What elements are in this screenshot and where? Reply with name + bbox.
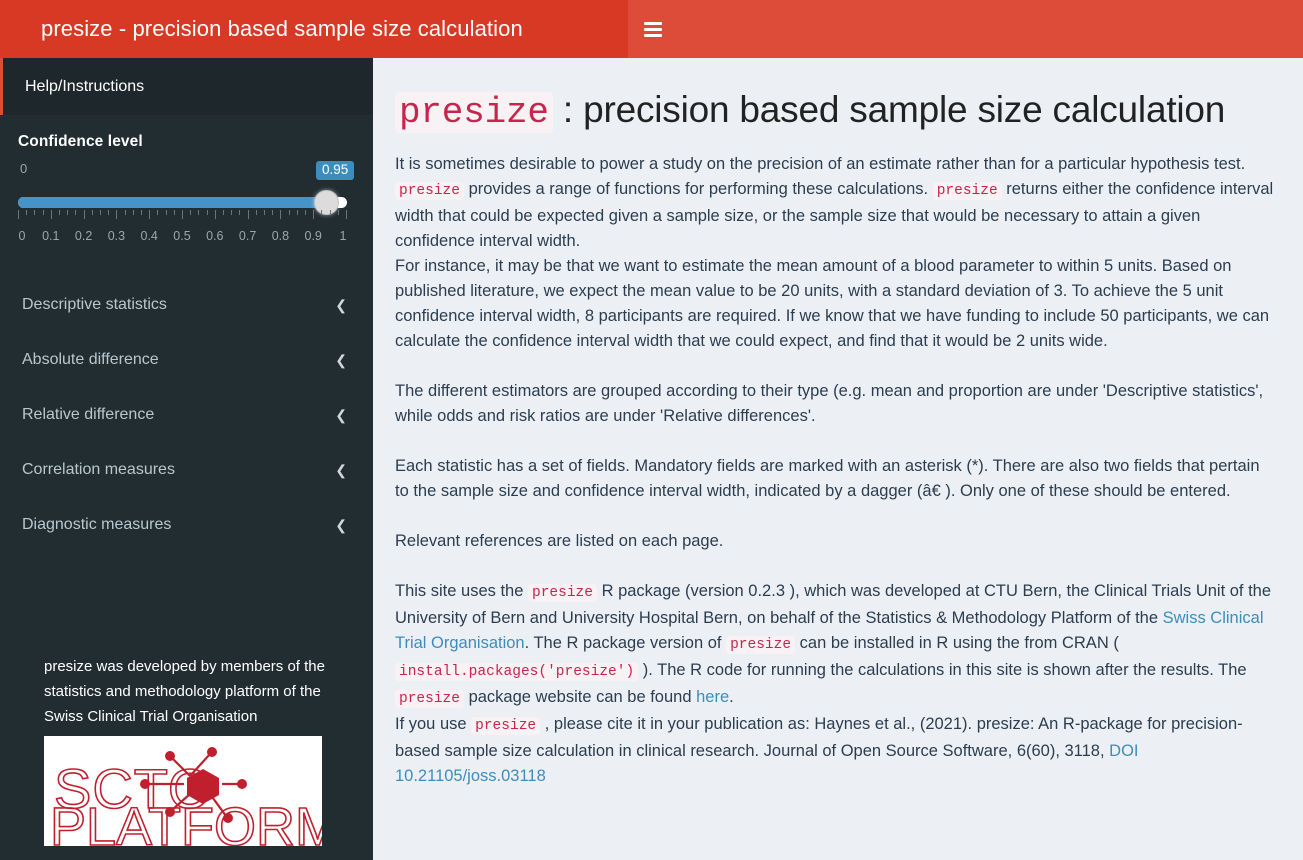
paragraph-grouping: The different estimators are grouped acc… — [395, 379, 1277, 429]
sidebar-item-descriptive-statistics[interactable]: Descriptive statistics❮ — [0, 277, 373, 332]
code-install-packages: install.packages('presize') — [395, 663, 638, 681]
slider-tick — [108, 210, 109, 215]
slider-tick — [313, 210, 314, 219]
slider-tick — [182, 210, 183, 219]
slider-tick — [34, 210, 35, 215]
slider-tick — [248, 210, 249, 219]
sidebar-toggle-button[interactable] — [628, 0, 678, 58]
slider-tick — [59, 210, 60, 215]
slider-tick — [280, 210, 281, 219]
chevron-left-icon: ❮ — [335, 408, 347, 422]
slider-tick-label: 1 — [340, 229, 347, 243]
confidence-level-slider[interactable]: 0.95 — [18, 183, 347, 229]
slider-tick — [100, 210, 101, 215]
application-root: presize - precision based sample size ca… — [0, 0, 1303, 860]
slider-tick — [338, 210, 339, 215]
slider-tick — [166, 210, 167, 215]
sidebar-footer-text: presize was developed by members of the … — [44, 654, 333, 729]
code-presize-6: presize — [471, 717, 540, 735]
slider-tick — [43, 210, 44, 215]
pkg-text-g: . — [729, 688, 734, 706]
sidebar-item-absolute-difference[interactable]: Absolute difference❮ — [0, 332, 373, 387]
paragraph-fields: Each statistic has a set of fields. Mand… — [395, 454, 1277, 504]
slider-min-label: 0 — [20, 161, 359, 177]
slider-tick — [141, 210, 142, 215]
sidebar-item-label: Relative difference — [22, 406, 154, 424]
slider-tick — [272, 210, 273, 215]
slider-tick — [256, 210, 257, 215]
slider-tick-label: 0.5 — [173, 229, 190, 243]
pkg-text-e: ). The R code for running the calculatio… — [643, 661, 1247, 679]
slider-tick — [84, 210, 85, 219]
slider-tick-label: 0.4 — [140, 229, 157, 243]
cite-text-a: If you use — [395, 715, 467, 733]
slider-tick — [26, 210, 27, 215]
slider-ticks — [18, 210, 347, 220]
code-presize-1: presize — [395, 182, 464, 200]
sidebar-footer: presize was developed by members of the … — [0, 654, 373, 860]
slider-tick-label: 0.6 — [206, 229, 223, 243]
paragraph-intro: It is sometimes desirable to power a stu… — [395, 152, 1277, 254]
slider-tick — [264, 210, 265, 215]
main-header: presize - precision based sample size ca… — [0, 0, 1303, 58]
slider-tick — [207, 210, 208, 215]
chevron-left-icon: ❮ — [335, 463, 347, 477]
slider-tick-label: 0.8 — [272, 229, 289, 243]
slider-tick — [133, 210, 134, 215]
slider-value-tooltip: 0.95 — [316, 161, 354, 180]
slider-tick — [239, 210, 240, 215]
code-presize-3: presize — [528, 584, 597, 602]
link-here[interactable]: here — [696, 688, 729, 706]
slider-tick — [305, 210, 306, 215]
sidebar-menu: Descriptive statistics❮Absolute differen… — [0, 277, 373, 552]
pkg-text-b: R package (version 0.2.3 ), which was de… — [395, 582, 1271, 627]
slider-tick — [149, 210, 150, 219]
slider-tick — [92, 210, 93, 215]
page-title-code: presize — [395, 92, 553, 133]
slider-tick — [125, 210, 126, 215]
slider-fill — [18, 197, 321, 208]
sidebar-item-correlation-measures[interactable]: Correlation measures❮ — [0, 442, 373, 497]
hamburger-icon — [644, 19, 662, 40]
slider-tick — [321, 210, 322, 215]
slider-tick — [75, 210, 76, 215]
slider-tick — [157, 210, 158, 215]
slider-tick-label: 0 — [19, 229, 26, 243]
chevron-left-icon: ❮ — [335, 298, 347, 312]
slider-tick — [67, 210, 68, 215]
code-presize-2: presize — [933, 182, 1002, 200]
paragraph-example: For instance, it may be that we want to … — [395, 254, 1277, 354]
slider-tick — [116, 210, 117, 219]
sidebar-item-label: Help/Instructions — [25, 78, 144, 96]
slider-tick — [223, 210, 224, 215]
slider-tick-labels: 00.10.20.30.40.50.60.70.80.91 — [18, 229, 347, 249]
slider-tick — [18, 210, 19, 219]
slider-tick — [346, 210, 347, 219]
scto-logo-graphic: SCTO PLATFORMS — [44, 736, 322, 846]
scto-logo-text-line2: PLATFORMS — [50, 797, 322, 846]
app-title: presize - precision based sample size ca… — [41, 16, 523, 42]
slider-tick — [330, 210, 331, 215]
slider-tick-label: 0.2 — [75, 229, 92, 243]
top-navbar — [628, 0, 1303, 58]
sidebar-item-label: Descriptive statistics — [22, 296, 167, 314]
confidence-level-slider-group: Confidence level 0 0.95 00.10.20.30.40.5… — [0, 115, 373, 255]
slider-tick-label: 0.1 — [42, 229, 59, 243]
slider-tick — [297, 210, 298, 215]
slider-tick — [289, 210, 290, 215]
slider-tick — [231, 210, 232, 215]
slider-tick — [198, 210, 199, 215]
sidebar-item-help-instructions[interactable]: Help/Instructions — [0, 58, 373, 115]
sidebar: Help/Instructions Confidence level 0 0.9… — [0, 58, 373, 860]
page-title: presize : precision based sample size ca… — [395, 84, 1277, 138]
code-presize-4: presize — [726, 636, 795, 654]
sidebar-item-label: Correlation measures — [22, 461, 175, 479]
paragraph-intro-b: provides a range of functions for perfor… — [469, 180, 929, 198]
page-title-rest: : precision based sample size calculatio… — [553, 89, 1225, 130]
slider-tick-label: 0.9 — [304, 229, 321, 243]
scto-platforms-logo: SCTO PLATFORMS — [44, 736, 322, 846]
sidebar-item-relative-difference[interactable]: Relative difference❮ — [0, 387, 373, 442]
code-presize-5: presize — [395, 690, 464, 708]
slider-tick — [190, 210, 191, 215]
slider-tick — [51, 210, 52, 219]
pkg-text-a: This site uses the — [395, 582, 523, 600]
app-logo-title[interactable]: presize - precision based sample size ca… — [0, 0, 628, 58]
slider-tick-label: 0.3 — [108, 229, 125, 243]
paragraph-intro-a: It is sometimes desirable to power a stu… — [395, 155, 1245, 173]
pkg-text-c: . The R package version of — [525, 634, 722, 652]
paragraph-citation: If you use presize , please cite it in y… — [395, 712, 1277, 789]
paragraph-references: Relevant references are listed on each p… — [395, 529, 1277, 554]
sidebar-item-diagnostic-measures[interactable]: Diagnostic measures❮ — [0, 497, 373, 552]
sidebar-item-label: Diagnostic measures — [22, 516, 171, 534]
body-wrapper: Help/Instructions Confidence level 0 0.9… — [0, 58, 1303, 860]
main-content: presize : precision based sample size ca… — [373, 58, 1303, 860]
chevron-left-icon: ❮ — [335, 518, 347, 532]
slider-tick — [174, 210, 175, 215]
paragraph-package-info: This site uses the presize R package (ve… — [395, 579, 1277, 712]
slider-tick-label: 0.7 — [239, 229, 256, 243]
pkg-text-f: package website can be found — [469, 688, 692, 706]
slider-tick — [215, 210, 216, 219]
confidence-level-label: Confidence level — [18, 133, 359, 151]
sidebar-item-label: Absolute difference — [22, 351, 159, 369]
pkg-text-d: can be installed in R using the from CRA… — [800, 634, 1119, 652]
chevron-left-icon: ❮ — [335, 353, 347, 367]
